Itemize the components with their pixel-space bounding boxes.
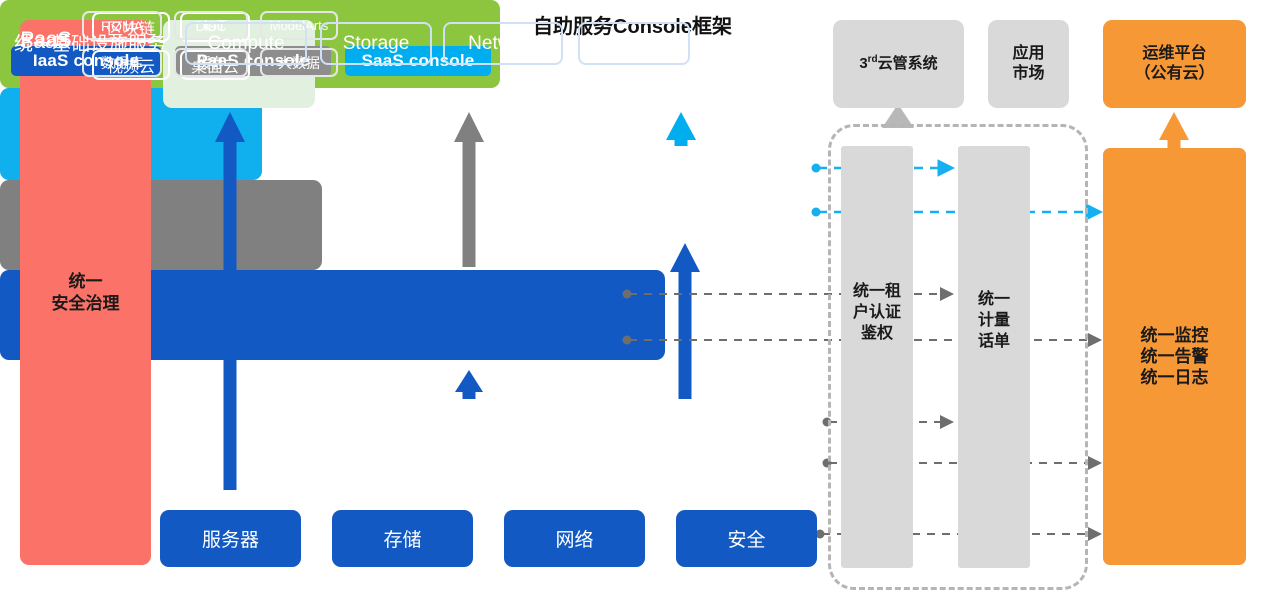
app-market-line-2: 市场 <box>1012 64 1044 84</box>
arrow-opsbar-to-opsplatform <box>1159 112 1189 148</box>
metering-line-3: 话单 <box>958 332 1030 353</box>
infrastructure-label: 统一基础设施服务 <box>14 29 166 56</box>
app-market-line-1: 应用 <box>1012 44 1044 64</box>
infra-chip-compute[interactable]: Compute <box>185 22 307 65</box>
governance-line-2: 安全治理 <box>52 293 120 314</box>
third-party-suffix: 云管系统 <box>878 55 938 72</box>
metering-line-1: 统一 <box>958 290 1030 311</box>
column-metering <box>958 146 1030 568</box>
ops-bar-line-1: 统一监控 <box>1141 325 1209 346</box>
ops-platform-line-1: 运维平台 <box>1134 44 1214 64</box>
ops-monitoring-bar[interactable]: 统一监控 统一告警 统一日志 <box>1103 148 1246 565</box>
auth-line-3: 鉴权 <box>841 324 913 345</box>
infra-chip-storage[interactable]: Storage <box>320 22 432 65</box>
hardware-security[interactable]: 安全 <box>676 510 817 567</box>
column-tenant-auth-label: 统一租 户认证 鉴权 <box>841 282 913 344</box>
diagram-canvas: 统一租 户认证 鉴权 统一 计量 话单 统一 安全治理 API网关 自助服务Co… <box>0 0 1265 605</box>
app-market-box[interactable]: 应用 市场 <box>988 20 1069 108</box>
unified-security-governance-panel[interactable]: 统一 安全治理 <box>20 20 151 565</box>
third-party-superscript: rd <box>868 54 878 65</box>
ops-bar-line-3: 统一日志 <box>1141 367 1209 388</box>
arrow-infra-to-paas <box>455 370 483 399</box>
auth-line-2: 户认证 <box>841 303 913 324</box>
ops-platform-line-2: （公有云） <box>1134 64 1214 84</box>
column-metering-label: 统一 计量 话单 <box>958 290 1030 352</box>
arrow-paas-to-console <box>454 112 484 267</box>
hardware-storage[interactable]: 存储 <box>332 510 473 567</box>
metering-line-2: 计量 <box>958 311 1030 332</box>
governance-line-1: 统一 <box>52 271 120 292</box>
infra-chip-cce[interactable]: CCE <box>578 22 690 65</box>
auth-line-1: 统一租 <box>841 282 913 303</box>
ops-bar-line-2: 统一告警 <box>1141 346 1209 367</box>
third-party-prefix: 3 <box>859 55 867 72</box>
hardware-server[interactable]: 服务器 <box>160 510 301 567</box>
hardware-network[interactable]: 网络 <box>504 510 645 567</box>
ops-platform-box[interactable]: 运维平台 （公有云） <box>1103 20 1246 108</box>
arrow-infra-to-saas <box>670 243 700 399</box>
infra-chip-network[interactable]: Network <box>443 22 563 65</box>
column-tenant-auth <box>841 146 913 568</box>
arrow-saas-to-console <box>666 112 696 146</box>
third-party-cloud-mgmt-box[interactable]: 3rd云管系统 <box>833 20 964 108</box>
